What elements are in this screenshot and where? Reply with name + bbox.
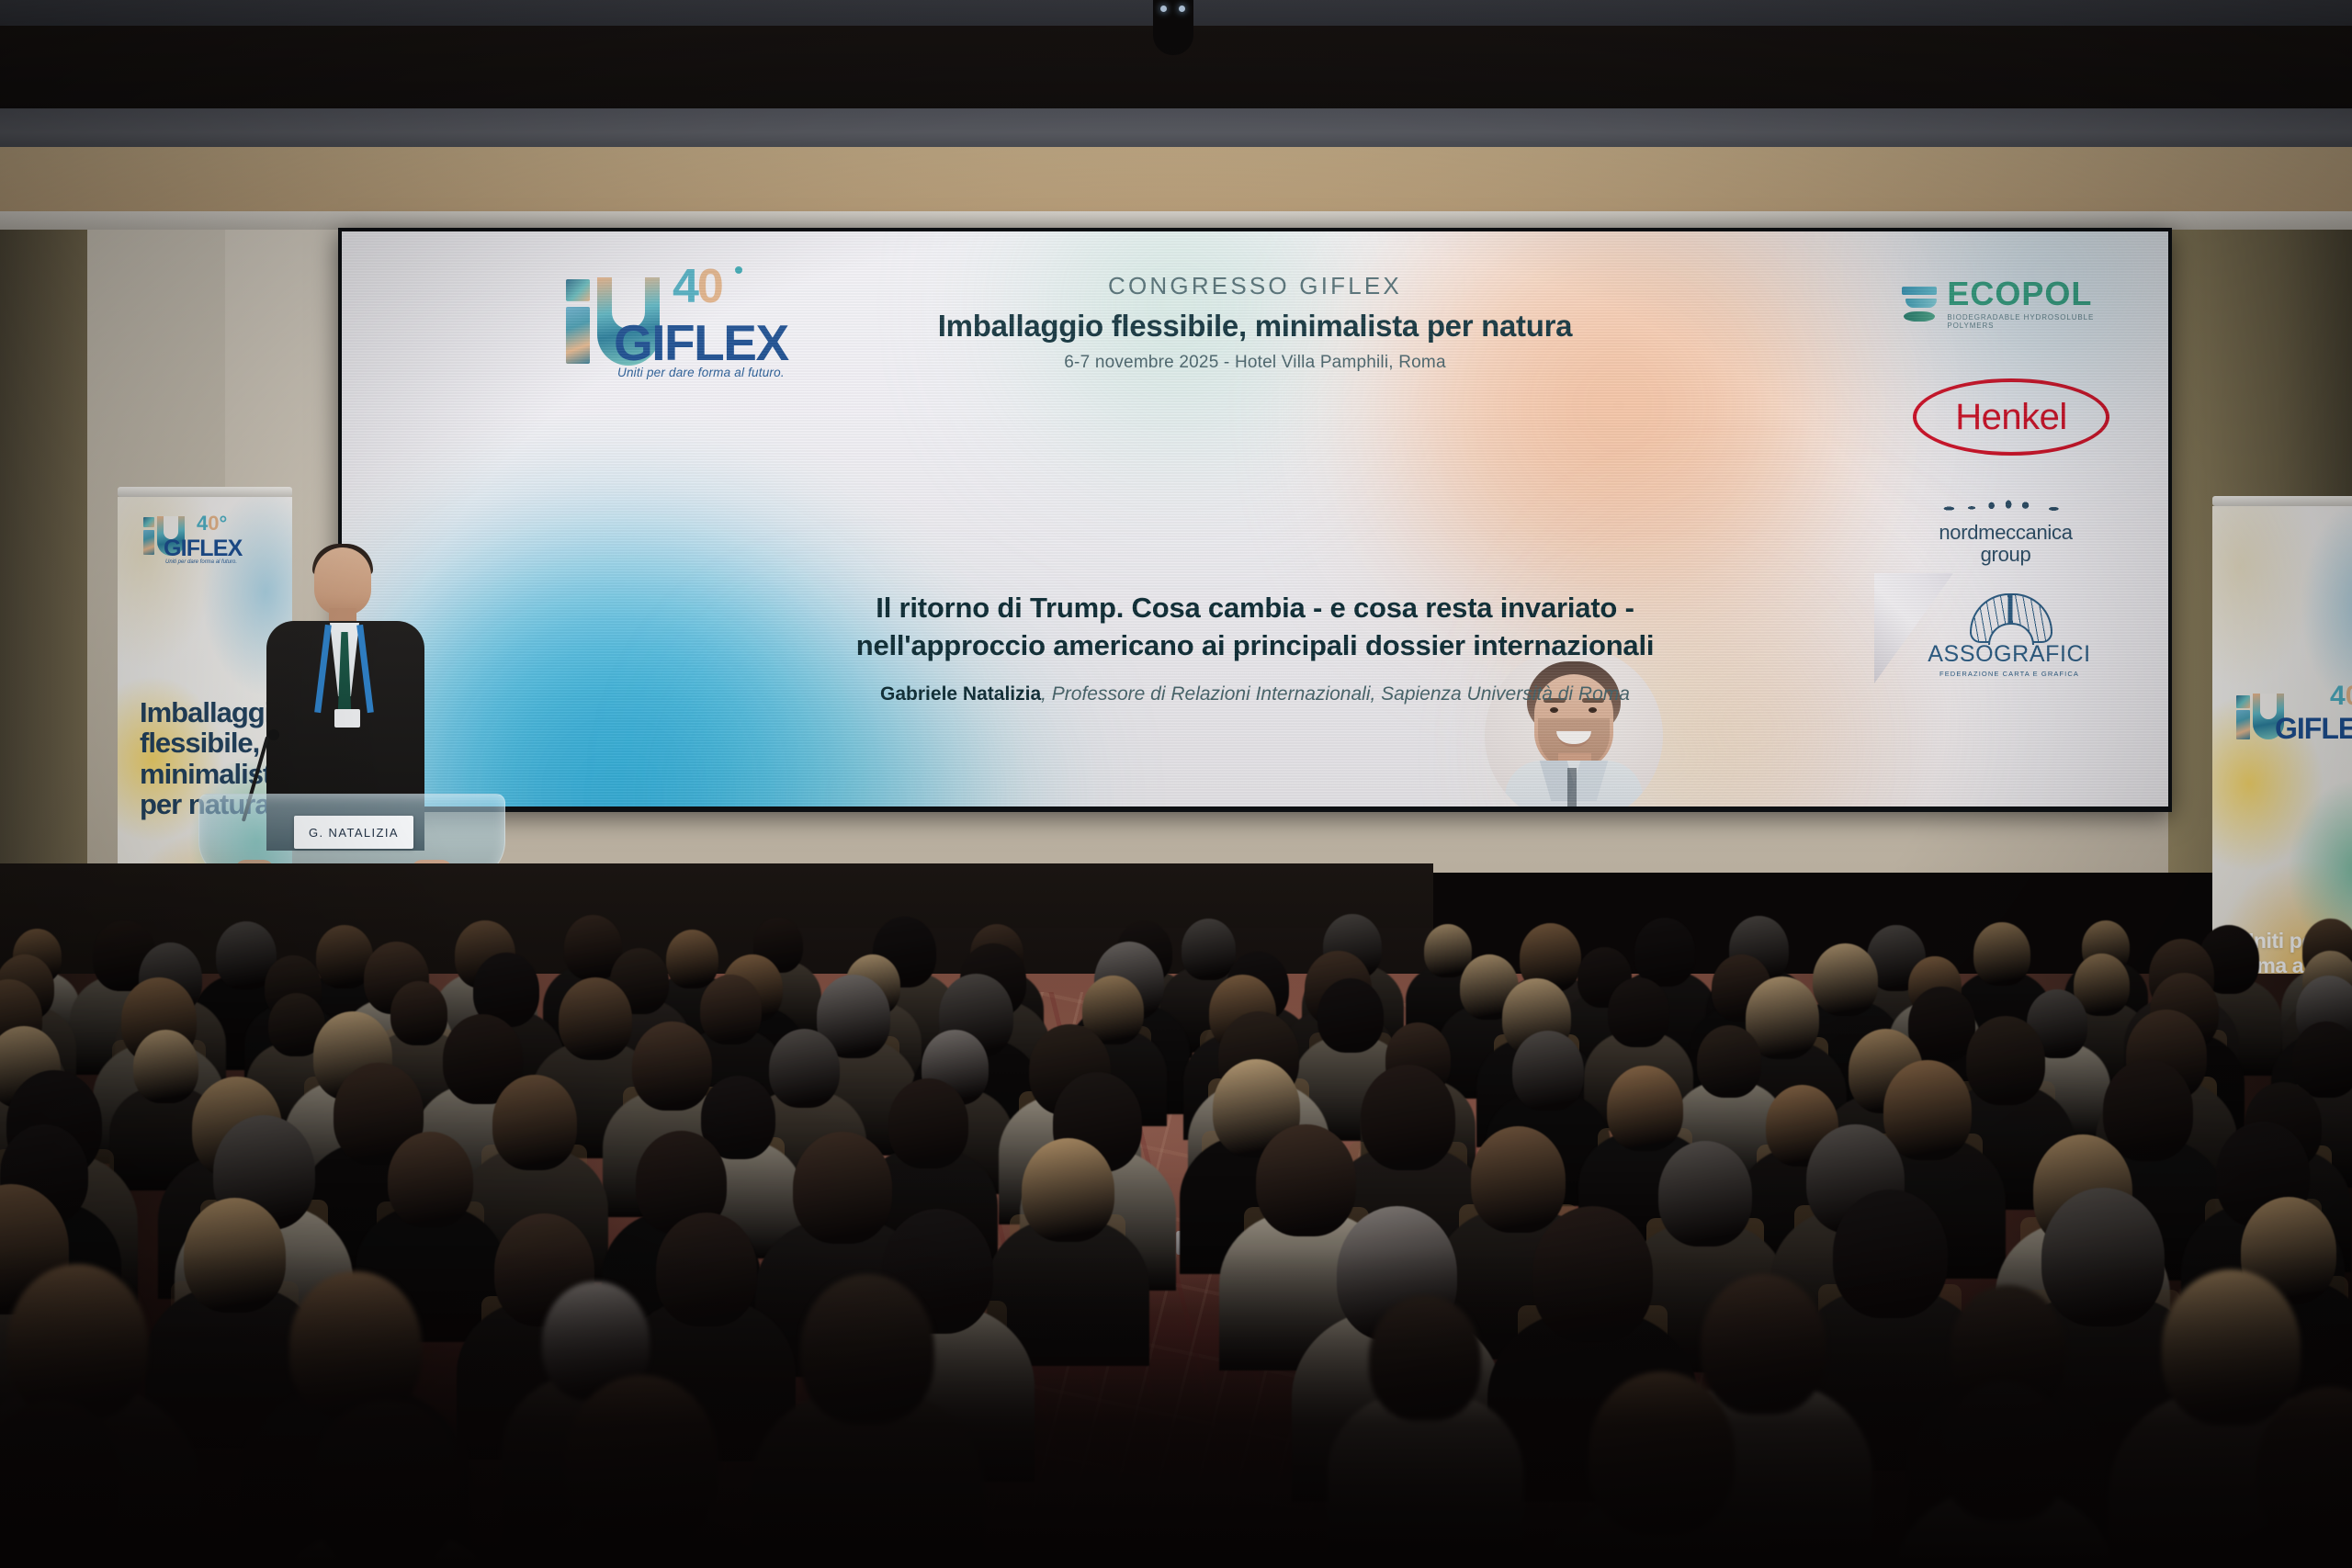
nordmeccanica-subword: group xyxy=(1909,544,2102,566)
talk-title-line-1: Il ritorno di Trump. Cosa cambia - e cos… xyxy=(722,590,1788,627)
projection-screen: 40 GIFLEX Uniti per dare forma al futuro… xyxy=(342,231,2168,807)
ceiling-soffit xyxy=(0,108,2352,149)
sponsor-ecopol: ECOPOL BIODEGRADABLE HYDROSOLUBLE POLYME… xyxy=(1865,255,2141,351)
assografici-tagline: FEDERAZIONE CARTA E GRAFICA xyxy=(1922,670,2097,678)
banner-left-logo-tagline: Uniti per dare forma al futuro. xyxy=(165,559,237,565)
speaker-badge xyxy=(334,709,360,728)
banner-right-logo: 40° GIFLEX xyxy=(2234,686,2352,741)
banner-right-anniversary: 40° xyxy=(2330,682,2352,710)
sponsor-rail: ECOPOL BIODEGRADABLE HYDROSOLUBLE POLYME… xyxy=(1865,255,2141,696)
ecopol-wordmark: ECOPOL xyxy=(1947,277,2141,310)
foreground-shadow xyxy=(0,1249,2352,1568)
speaker-attribution: Gabriele Natalizia, Professore di Relazi… xyxy=(658,683,1852,705)
henkel-logo-icon: Henkel xyxy=(1913,378,2109,456)
audience-member-head xyxy=(1729,916,1789,983)
banner-left-wordmark: GIFLEX xyxy=(164,537,242,560)
ceiling-projector xyxy=(1153,0,1193,55)
nordmeccanica-logo-icon xyxy=(1909,491,2102,522)
sponsor-assografici: ASSOGRAFICI FEDERAZIONE CARTA E GRAFICA xyxy=(1865,586,2141,682)
slide-content: 40 GIFLEX Uniti per dare forma al futuro… xyxy=(342,231,2168,807)
banner-left-anniversary: 40° xyxy=(197,513,227,534)
banner-right-slogan-1: Uniti per dare xyxy=(2212,929,2352,953)
ceiling-tan-band xyxy=(0,147,2352,213)
projector-led-left xyxy=(1160,6,1167,12)
speaker-name: Gabriele Natalizia xyxy=(880,683,1041,705)
sponsor-nordmeccanica: nordmeccanica group xyxy=(1865,476,2141,571)
audience-member-head xyxy=(2082,920,2130,974)
speaker-role: , Professore di Relazioni Internazionali… xyxy=(1041,683,1630,705)
nordmeccanica-wordmark: nordmeccanica xyxy=(1909,522,2102,544)
talk-title: Il ritorno di Trump. Cosa cambia - e cos… xyxy=(722,590,1788,665)
ecopol-tagline: BIODEGRADABLE HYDROSOLUBLE POLYMERS xyxy=(1947,313,2141,330)
banner-right-slogan: Uniti per dare forma al futuro. xyxy=(2212,929,2352,977)
assografici-bird-icon xyxy=(1922,592,2097,641)
sponsor-henkel: Henkel xyxy=(1865,366,2141,461)
talk-title-line-2: nell'approccio americano ai principali d… xyxy=(722,627,1788,665)
microphone-icon xyxy=(268,729,279,740)
banner-right-wordmark: GIFLEX xyxy=(2275,714,2352,743)
podium-nameplate: G. NATALIZIA xyxy=(294,816,413,849)
rollup-banner-right: 40° GIFLEX Uniti per dare forma al futur… xyxy=(2212,496,2352,1010)
assografici-wordmark: ASSOGRAFICI xyxy=(1922,641,2097,668)
ecopol-logo-icon xyxy=(1902,285,1938,323)
projector-led-right xyxy=(1179,6,1185,12)
banner-left-logo: 40° GIFLEX Uniti per dare forma al futur… xyxy=(141,513,270,563)
henkel-wordmark: Henkel xyxy=(1955,397,2067,438)
conference-photo: 40 GIFLEX Uniti per dare forma al futuro… xyxy=(0,0,2352,1568)
speaker-headshot-avatar xyxy=(1485,647,1663,807)
